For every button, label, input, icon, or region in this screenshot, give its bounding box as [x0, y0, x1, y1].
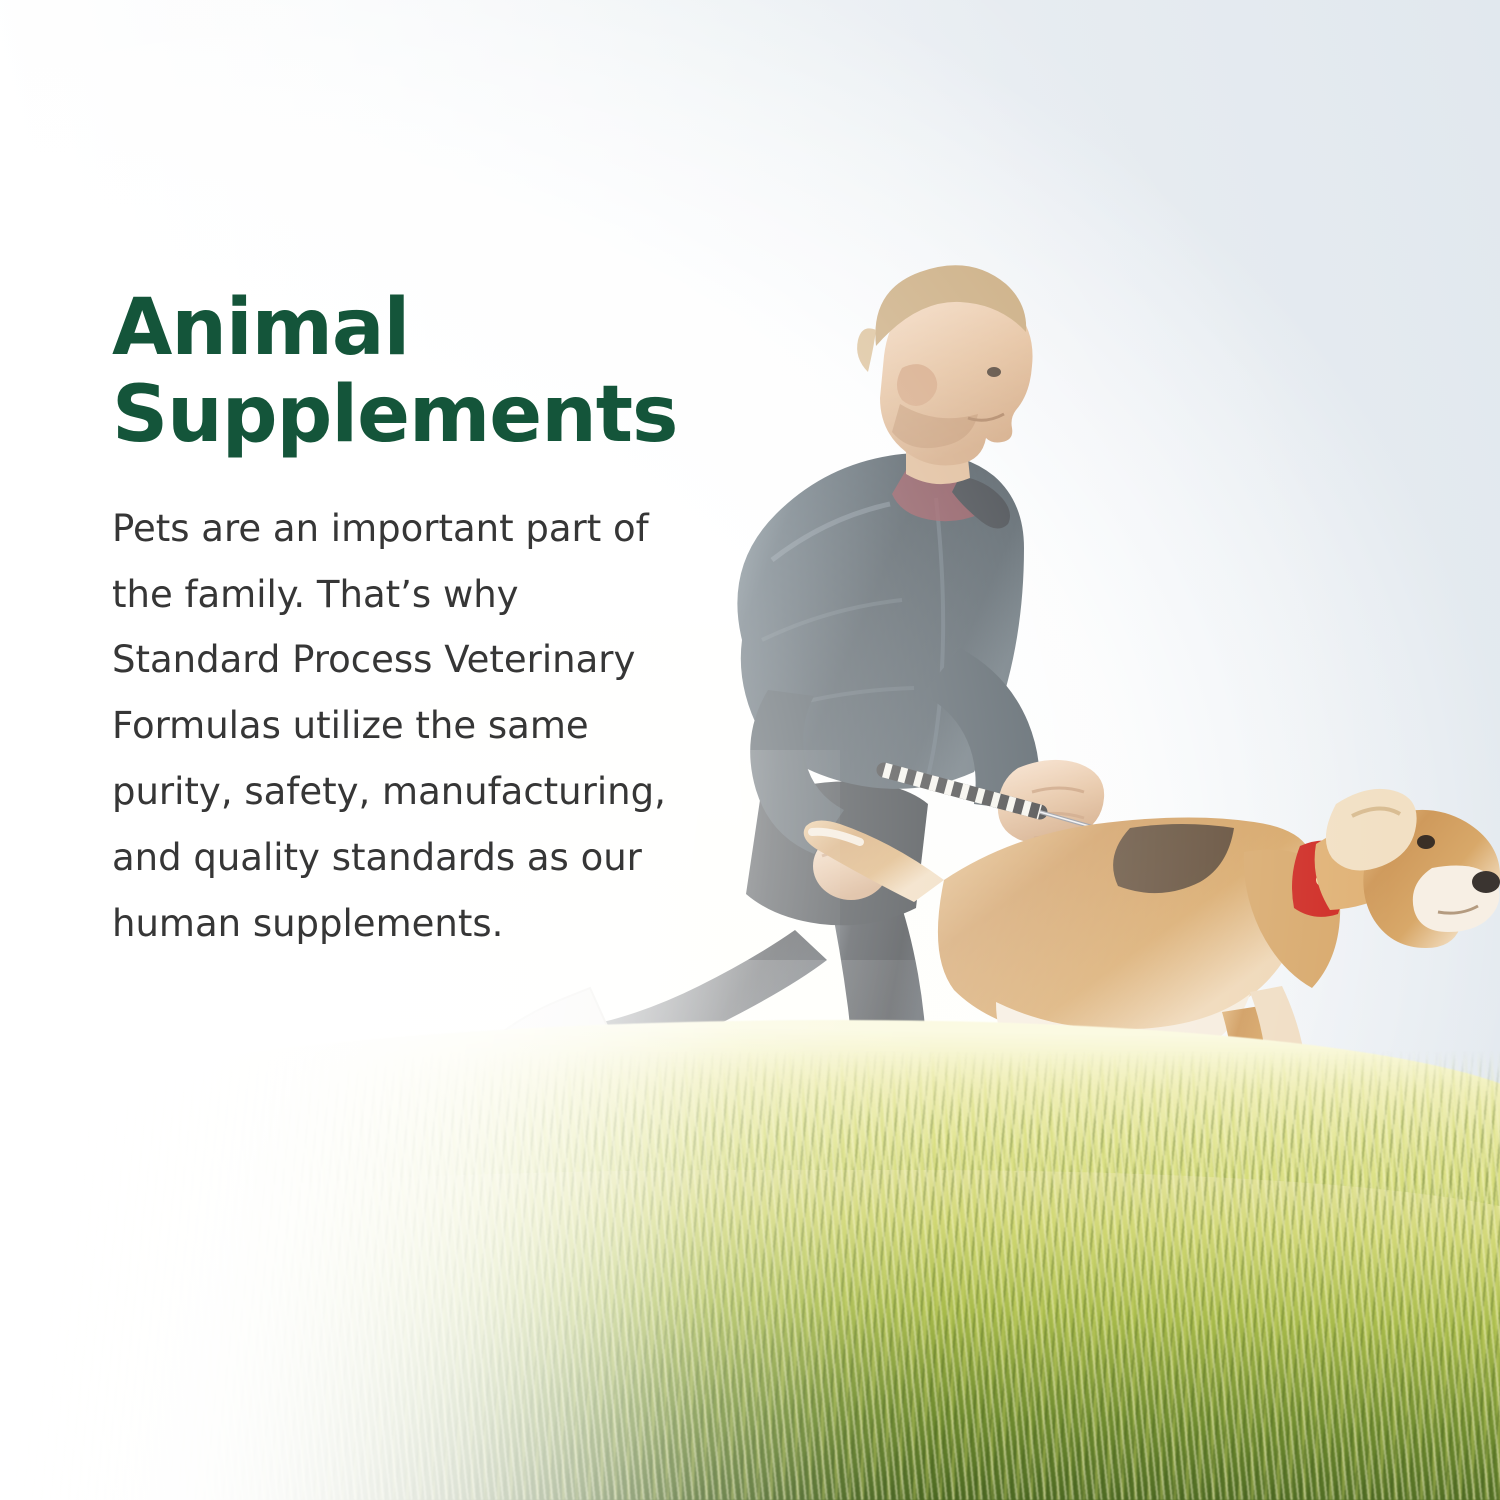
- promo-banner: Animal Supplements Pets are an important…: [0, 0, 1500, 1500]
- copy-block: Animal Supplements Pets are an important…: [112, 285, 712, 957]
- page-title: Animal Supplements: [112, 285, 712, 460]
- grass-sun-wash: [0, 960, 930, 1500]
- body-paragraph: Pets are an important part of the family…: [112, 496, 672, 957]
